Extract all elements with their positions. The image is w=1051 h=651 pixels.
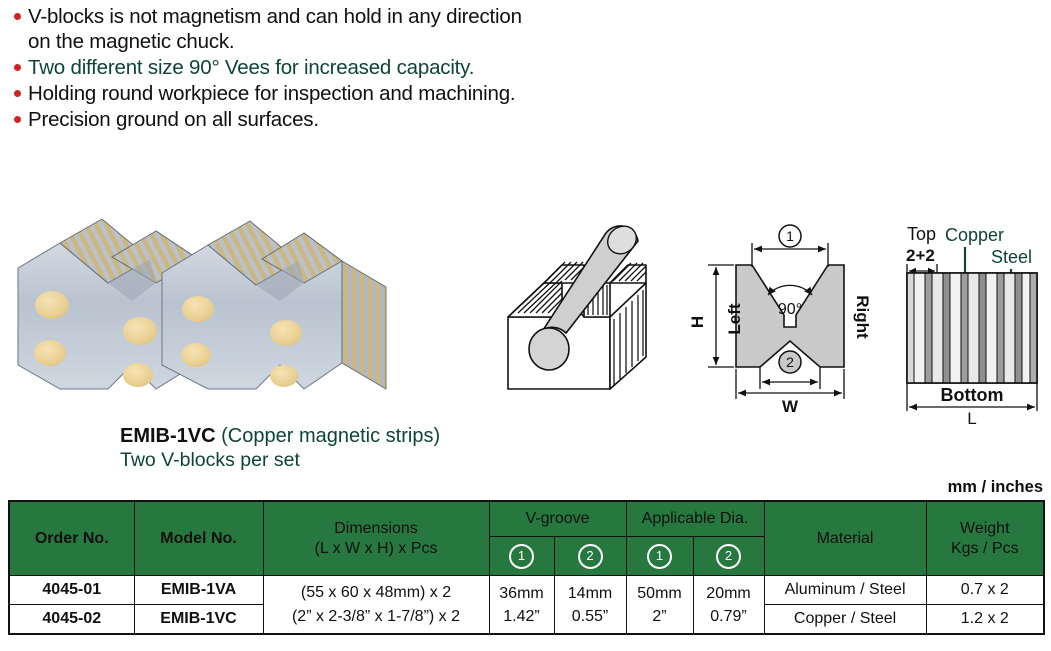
xsec-w-label: W [782,397,799,416]
circle-number-2-icon: 2 [578,544,603,569]
cell-app-dia-2-inch: 0.79” [694,605,764,628]
xsec-mark-2: 2 [786,354,794,370]
feature-bullet-list: V-blocks is not magnetism and can hold i… [14,4,534,133]
xsec-mark-1: 1 [786,228,794,244]
product-photo-v-blocks [12,213,412,413]
spec-table: Order No. Model No. Dimensions (L x W x … [8,500,1045,635]
strip-top-label: Top [907,224,936,244]
list-item: Holding round workpiece for inspection a… [14,81,534,106]
xsec-angle-label: 90° [778,301,802,318]
bullet-text: V-blocks is not magnetism and can hold i… [28,4,534,54]
cell-v-groove-1: 36mm 1.42” [489,576,554,635]
header-material: Material [764,501,926,576]
bullet-dot-icon [14,116,23,123]
spec-table-wrapper: Order No. Model No. Dimensions (L x W x … [8,500,1043,635]
cell-material: Aluminum / Steel [764,576,926,605]
header-dimensions-line2: (L x W x H) x Pcs [264,539,489,559]
cell-material: Copper / Steel [764,605,926,635]
bullet-text: Precision ground on all surfaces. [28,107,319,132]
circle-number-1-icon: 1 [509,544,534,569]
strip-gap-label: 2+2 [906,246,935,265]
cell-model-no: EMIB-1VC [134,605,263,635]
cell-dimensions-mm: (55 x 60 x 48mm) x 2 [264,581,489,605]
header-v-groove-2: 2 [554,537,626,576]
header-model-no: Model No. [134,501,263,576]
media-row: 1 90° H Left Right [0,205,1051,420]
header-v-groove-1: 1 [489,537,554,576]
bullet-text: Two different size 90° Vees for increase… [28,55,474,80]
header-v-groove: V-groove [489,501,626,537]
table-header-row-1: Order No. Model No. Dimensions (L x W x … [9,501,1044,537]
header-app-dia-1: 1 [626,537,693,576]
product-caption: EMIB-1VC (Copper magnetic strips) Two V-… [120,424,720,472]
xsec-h-label: H [688,316,707,328]
strip-copper-label: Copper [945,225,1004,245]
header-weight-line2: Kgs / Pcs [927,539,1044,559]
bullet-dot-icon [14,64,23,71]
bullet-dot-icon [14,90,23,97]
header-weight-line1: Weight [927,519,1044,539]
table-row: 4045-01 EMIB-1VA (55 x 60 x 48mm) x 2 (2… [9,576,1044,605]
strip-l-label: L [967,409,976,428]
header-dimensions-line1: Dimensions [264,519,489,539]
cell-v-groove-2-inch: 0.55” [555,605,626,628]
strip-layout-diagram: Top Copper Steel 2+2 [893,211,1051,416]
cross-section-diagram: 1 90° H Left Right [690,219,890,414]
cell-model-no: EMIB-1VA [134,576,263,605]
cell-app-dia-1-inch: 2” [627,605,693,628]
cell-dimensions: (55 x 60 x 48mm) x 2 (2” x 2-3/8” x 1-7/… [263,576,489,635]
cell-v-groove-2-mm: 14mm [555,582,626,605]
isometric-v-block-with-workpiece-diagram [488,219,678,404]
cell-order-no: 4045-02 [9,605,134,635]
caption-model-name: EMIB-1VC [120,425,216,447]
units-note: mm / inches [948,478,1043,497]
cell-v-groove-1-inch: 1.42” [490,605,554,628]
v-block-right [162,221,386,389]
list-item: Precision ground on all surfaces. [14,107,534,132]
strip-block [907,273,1037,383]
strip-bottom-label: Bottom [941,385,1004,405]
caption-material-note: (Copper magnetic strips) [221,425,440,447]
xsec-left-label: Left [725,303,744,335]
cell-app-dia-2: 20mm 0.79” [693,576,764,635]
cell-order-no: 4045-01 [9,576,134,605]
strip-steel-label: Steel [991,247,1032,267]
circle-number-2-icon: 2 [716,544,741,569]
list-item: Two different size 90° Vees for increase… [14,55,534,80]
cell-app-dia-1: 50mm 2” [626,576,693,635]
header-weight: Weight Kgs / Pcs [926,501,1044,576]
product-spec-sheet: V-blocks is not magnetism and can hold i… [0,0,1051,651]
caption-set-note: Two V-blocks per set [120,448,720,472]
cell-app-dia-1-mm: 50mm [627,582,693,605]
bullet-text: Holding round workpiece for inspection a… [28,81,515,106]
header-applicable-dia: Applicable Dia. [626,501,764,537]
xsec-right-label: Right [853,295,872,339]
circle-number-1-icon: 1 [647,544,672,569]
header-order-no: Order No. [9,501,134,576]
bullet-dot-icon [14,13,23,20]
cell-app-dia-2-mm: 20mm [694,582,764,605]
cell-weight: 0.7 x 2 [926,576,1044,605]
cell-weight: 1.2 x 2 [926,605,1044,635]
cell-v-groove-1-mm: 36mm [490,582,554,605]
list-item: V-blocks is not magnetism and can hold i… [14,4,534,54]
cell-v-groove-2: 14mm 0.55” [554,576,626,635]
cell-dimensions-inch: (2” x 2-3/8” x 1-7/8”) x 2 [264,605,489,629]
header-app-dia-2: 2 [693,537,764,576]
header-dimensions: Dimensions (L x W x H) x Pcs [263,501,489,576]
